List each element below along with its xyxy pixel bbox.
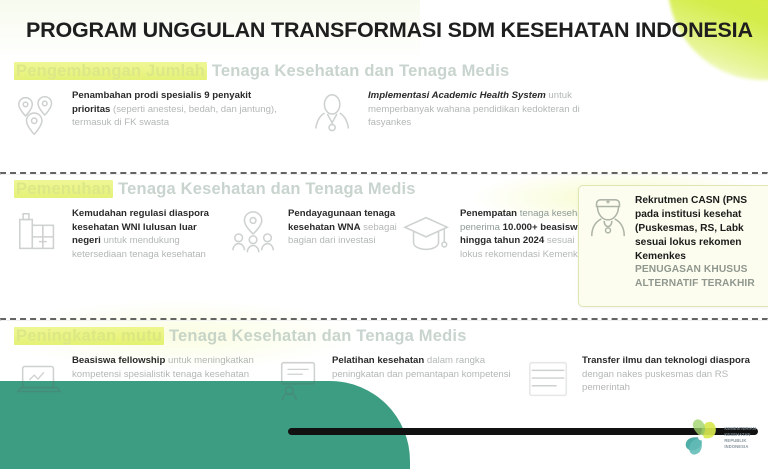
training-board-icon	[274, 356, 324, 404]
logo-line-1: KEMENTERIAN	[724, 426, 756, 431]
list-item-text: Pendayagunaan tenaga kesehatan WNA sebag…	[288, 207, 400, 248]
logo-line-2: KESEHATAN	[724, 432, 750, 437]
list-item: Pendayagunaan tenaga kesehatan WNA sebag…	[230, 207, 402, 257]
section-2-heading-rest: Tenaga Kesehatan dan Tenaga Medis	[113, 180, 415, 198]
list-item-strong: Penempatan	[460, 208, 517, 219]
card-line-5: Kemenkes	[635, 251, 686, 262]
list-item-strong: Beasiswa fellowship	[72, 355, 165, 366]
list-item-rest: dengan nakes puskesmas dan RS pemerintah	[582, 369, 728, 394]
hospital-building-icon	[14, 209, 64, 257]
list-item-text: Kemudahan regulasi diaspora kesehatan WN…	[72, 207, 220, 261]
list-item-text: Pelatihan kesehatan dalam rangka peningk…	[332, 354, 517, 381]
section-peningkatan-mutu: Peningkatan mutu Tenaga Kesehatan dan Te…	[0, 327, 768, 404]
location-pins-icon	[14, 91, 64, 139]
card-line-2: pada institusi kesehat	[635, 209, 741, 220]
list-item-text: Beasiswa fellowship untuk meningkatkan k…	[72, 354, 267, 381]
list-item-text: Implementasi Academic Health System untu…	[368, 89, 588, 130]
logo-line-3: REPUBLIK	[724, 438, 746, 443]
section-divider-2	[0, 318, 768, 321]
section-1-items: Penambahan prodi spesialis 9 penyakit pr…	[0, 89, 768, 139]
card-line-1: Rekrutmen CASN (PNS	[635, 195, 747, 206]
page-title: PROGRAM UNGGULAN TRANSFORMASI SDM KESEHA…	[26, 18, 753, 43]
card-line-6: PENUGASAN KHUSUS	[635, 264, 748, 275]
section-pengembangan-jumlah: Pengembangan Jumlah Tenaga Kesehatan dan…	[0, 62, 768, 139]
list-item: Pelatihan kesehatan dalam rangka peningk…	[274, 354, 524, 404]
kemenkes-logo-text: KEMENTERIAN KESEHATAN REPUBLIK INDONESIA	[724, 426, 756, 451]
kemenkes-logo-mark-icon	[682, 419, 720, 457]
logo-line-4: INDONESIA	[724, 444, 748, 449]
list-item-text: Transfer ilmu dan teknologi diaspora den…	[582, 354, 762, 395]
list-item: Beasiswa fellowship untuk meningkatkan k…	[14, 354, 274, 404]
section-3-items: Beasiswa fellowship untuk meningkatkan k…	[0, 354, 768, 404]
section-3-heading-highlight: Peningkatan mutu	[14, 327, 164, 345]
nurse-icon	[587, 194, 629, 240]
list-item: Penambahan prodi spesialis 9 penyakit pr…	[14, 89, 310, 139]
section-3-heading-rest: Tenaga Kesehatan dan Tenaga Medis	[164, 327, 466, 345]
section-1-heading: Pengembangan Jumlah Tenaga Kesehatan dan…	[0, 62, 768, 81]
list-item: Kemudahan regulasi diaspora kesehatan WN…	[14, 207, 230, 261]
list-item-strong: Pelatihan kesehatan	[332, 355, 424, 366]
list-item-strong: Transfer ilmu dan teknologi diaspora	[582, 355, 750, 366]
section-1-heading-rest: Tenaga Kesehatan dan Tenaga Medis	[207, 62, 509, 80]
card-line-7: ALTERNATIF TERAKHIR	[635, 278, 755, 289]
list-item: Penempatan tenaga kesehatan penerima 10.…	[402, 207, 598, 261]
people-location-icon	[230, 209, 280, 257]
rekrutmen-casn-card[interactable]: Rekrutmen CASN (PNS pada institusi keseh…	[578, 185, 768, 307]
kemenkes-logo: KEMENTERIAN KESEHATAN REPUBLIK INDONESIA	[682, 419, 756, 457]
card-line-3: (Puskesmas, RS, Labk	[635, 223, 744, 234]
list-item: Transfer ilmu dan teknologi diaspora den…	[524, 354, 764, 404]
list-item-text: Penambahan prodi spesialis 9 penyakit pr…	[72, 89, 287, 130]
list-item-strong: Implementasi Academic Health System	[368, 90, 546, 101]
card-text: Rekrutmen CASN (PNS pada institusi keseh…	[635, 194, 755, 300]
section-1-heading-highlight: Pengembangan Jumlah	[14, 62, 207, 80]
laptop-icon	[14, 356, 64, 404]
doctor-person-icon	[310, 91, 360, 139]
list-item: Implementasi Academic Health System untu…	[310, 89, 610, 139]
graduation-cap-icon	[402, 209, 452, 257]
section-2-heading-highlight: Pemenuhan	[14, 180, 113, 198]
document-lines-icon	[524, 356, 574, 404]
section-3-heading: Peningkatan mutu Tenaga Kesehatan dan Te…	[0, 327, 768, 346]
card-line-4: sesuai lokus rekomen	[635, 237, 741, 248]
section-divider-1	[0, 172, 768, 175]
